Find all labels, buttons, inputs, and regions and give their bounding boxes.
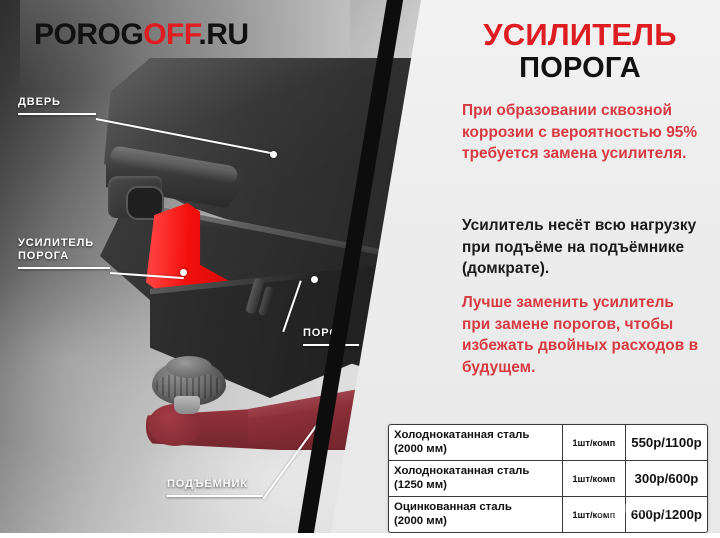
page-title: УСИЛИТЕЛЬ ПОРОГА: [455, 18, 705, 85]
info-paragraph-2: Усилитель несёт всю нагрузку при подъёме…: [462, 215, 706, 280]
price-row-price: 550р/1100р: [625, 425, 707, 461]
price-row-material-line2: (1250 мм): [394, 479, 447, 491]
table-row: Холоднокатанная сталь (1250 мм) 1шт/комп…: [389, 461, 707, 497]
price-row-qty: 1шт/комп: [562, 497, 625, 533]
price-row-qty: 1шт/комп: [562, 461, 625, 497]
table-row: Холоднокатанная сталь (2000 мм) 1шт/комп…: [389, 425, 707, 461]
price-table: Холоднокатанная сталь (2000 мм) 1шт/комп…: [388, 424, 708, 533]
price-row-material-line2: (2000 мм): [394, 443, 447, 455]
price-row-material-line1: Холоднокатанная сталь: [394, 429, 529, 441]
info-panel: УСИЛИТЕЛЬ ПОРОГА При образовании сквозно…: [0, 0, 720, 538]
info-paragraph-1: При образовании сквозной коррозии с веро…: [462, 100, 706, 165]
price-row-price: 300р/600р: [625, 461, 707, 497]
bottom-white-strip: [0, 533, 720, 538]
price-row-material: Холоднокатанная сталь (2000 мм): [389, 425, 562, 461]
table-row: Оцинкованная сталь (2000 мм) 1шт/комп 60…: [389, 497, 707, 533]
price-row-material-line1: Оцинкованная сталь: [394, 501, 512, 513]
page-title-line1: УСИЛИТЕЛЬ: [455, 18, 705, 52]
price-row-material-line2: (2000 мм): [394, 515, 447, 527]
promo-image: POROGOFF.RU ДВЕРЬ УСИЛИТЕЛЬ ПОРОГА ПОРОГ…: [0, 0, 720, 538]
price-row-material: Холоднокатанная сталь (1250 мм): [389, 461, 562, 497]
price-row-material: Оцинкованная сталь (2000 мм): [389, 497, 562, 533]
info-paragraph-3: Лучше заменить усилитель при замене поро…: [462, 292, 706, 378]
price-row-qty: 1шт/комп: [562, 425, 625, 461]
page-title-line2: ПОРОГА: [455, 52, 705, 85]
price-row-price: 600р/1200р: [625, 497, 707, 533]
price-row-material-line1: Холоднокатанная сталь: [394, 465, 529, 477]
